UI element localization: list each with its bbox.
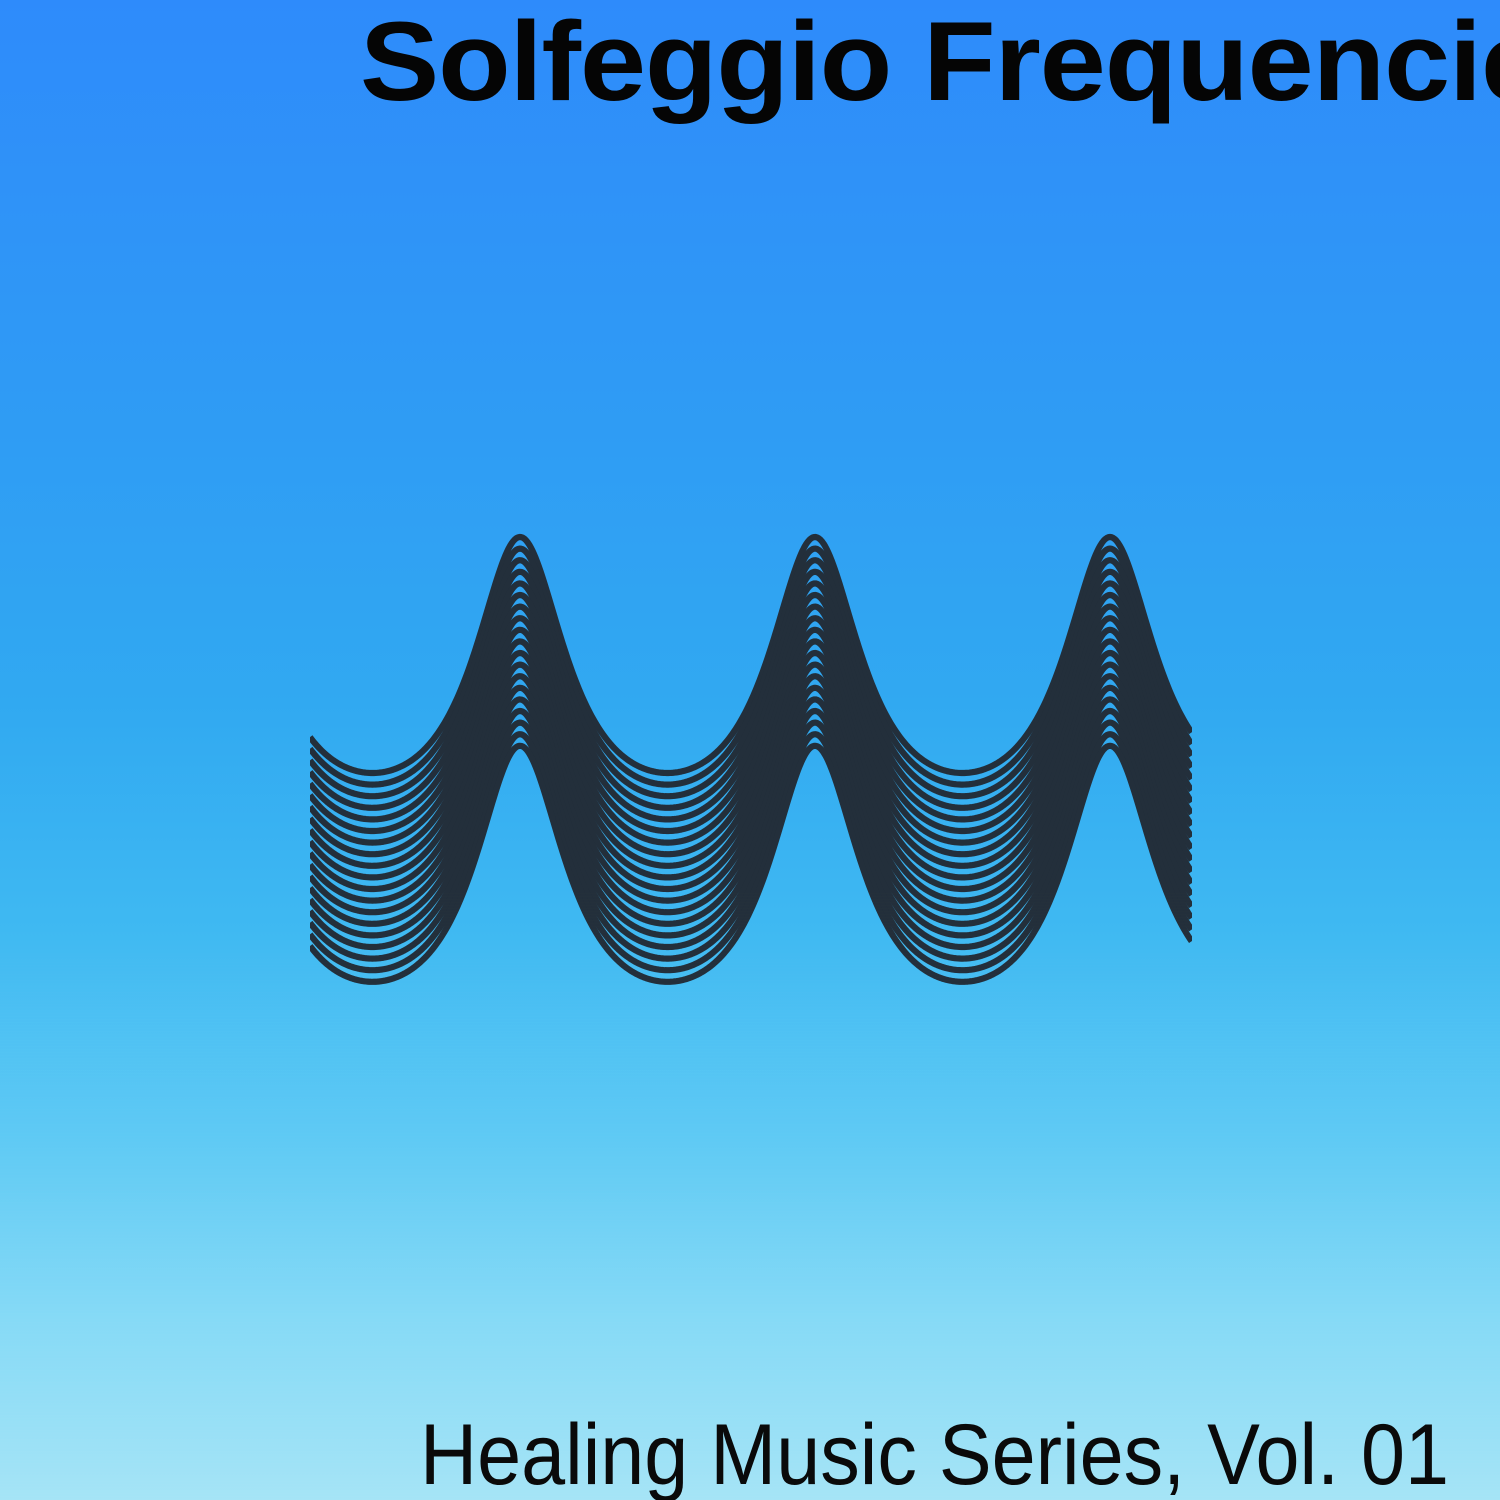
album-cover: Solfeggio Frequencies Healing Music Seri… (0, 0, 1500, 1500)
album-title: Solfeggio Frequencies (360, 6, 1500, 118)
wave-line-group (310, 537, 1192, 982)
album-subtitle: Healing Music Series, Vol. 01 (420, 1412, 1449, 1498)
wave-artwork (0, 0, 1500, 1500)
stacked-sine-wave-graphic (0, 0, 1500, 1500)
